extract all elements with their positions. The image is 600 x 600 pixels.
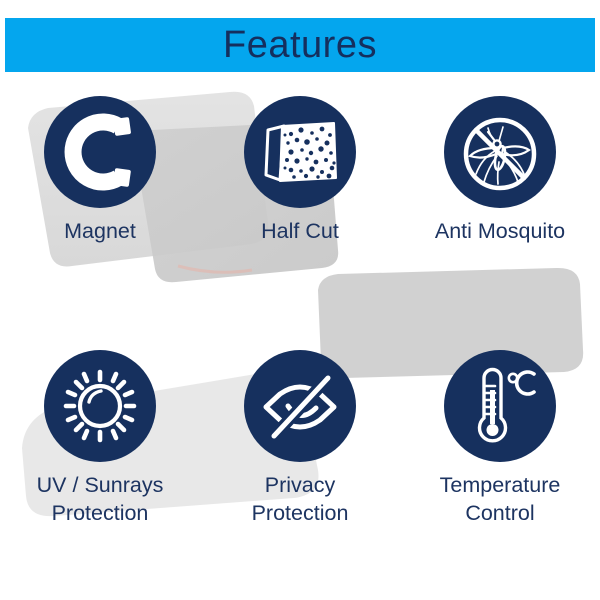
thermometer-icon xyxy=(444,350,556,462)
feature-item-uv-sunrays[interactable]: UV / Sunrays Protection xyxy=(5,350,195,527)
header-banner: Features xyxy=(5,18,595,72)
anti-mosquito-icon-badge xyxy=(444,96,556,208)
half-cut-icon-badge xyxy=(244,96,356,208)
feature-item-privacy[interactable]: Privacy Protection xyxy=(205,350,395,527)
feature-label-privacy: Privacy Protection xyxy=(252,472,349,527)
feature-row-top: Magnet xyxy=(0,96,600,278)
half-cut-mesh-icon xyxy=(244,96,356,208)
feature-label-magnet: Magnet xyxy=(64,218,136,246)
feature-item-magnet[interactable]: Magnet xyxy=(5,96,195,246)
feature-item-anti-mosquito[interactable]: Anti Mosquito xyxy=(405,96,595,246)
uv-sunrays-icon-badge xyxy=(44,350,156,462)
feature-label-anti-mosquito: Anti Mosquito xyxy=(435,218,565,246)
no-mosquito-icon xyxy=(444,96,556,208)
magnet-icon-badge xyxy=(44,96,156,208)
temperature-icon-badge xyxy=(444,350,556,462)
features-grid: Magnet xyxy=(0,96,600,540)
eye-slash-icon xyxy=(244,350,356,462)
feature-item-temperature[interactable]: Temperature Control xyxy=(405,350,595,527)
privacy-icon-badge xyxy=(244,350,356,462)
feature-label-uv-sunrays: UV / Sunrays Protection xyxy=(37,472,164,527)
feature-row-bottom: UV / Sunrays Protection xyxy=(0,350,600,540)
feature-item-half-cut[interactable]: Half Cut xyxy=(205,96,395,246)
page-title: Features xyxy=(5,18,595,72)
features-infographic: Features Magnet xyxy=(0,0,600,600)
magnet-icon xyxy=(44,96,156,208)
sun-icon xyxy=(44,350,156,462)
feature-label-half-cut: Half Cut xyxy=(261,218,339,246)
feature-label-temperature: Temperature Control xyxy=(440,472,561,527)
